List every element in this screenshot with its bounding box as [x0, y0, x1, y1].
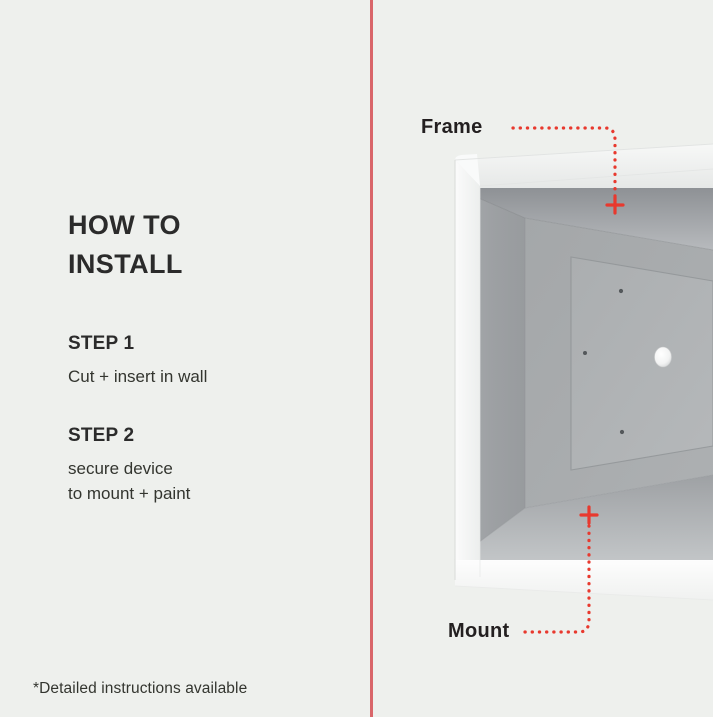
step-1-block: STEP 1 Cut + insert in wall [68, 333, 348, 389]
page-title: HOW TO INSTALL [68, 206, 338, 284]
step-1-desc-line-1: Cut + insert in wall [68, 364, 348, 389]
headline-line-2: INSTALL [68, 245, 338, 284]
wall-niche-illustration [373, 0, 713, 717]
product-photo-panel: Frame Mount [373, 0, 713, 717]
instructions-panel: HOW TO INSTALL STEP 1 Cut + insert in wa… [0, 0, 370, 717]
step-2-desc-line-2: to mount + paint [68, 481, 348, 506]
mount-plate [571, 257, 713, 470]
callout-label-frame: Frame [421, 116, 483, 139]
callout-label-mount: Mount [448, 620, 509, 643]
poster-root: HOW TO INSTALL STEP 1 Cut + insert in wa… [0, 0, 713, 717]
footnote-text: *Detailed instructions available [33, 680, 247, 698]
step-2-block: STEP 2 secure device to mount + paint [68, 425, 348, 506]
step-2-description: secure device to mount + paint [68, 456, 348, 506]
step-1-description: Cut + insert in wall [68, 364, 348, 389]
step-1-title: STEP 1 [68, 333, 348, 355]
headline-line-1: HOW TO [68, 206, 338, 245]
step-2-title: STEP 2 [68, 425, 348, 447]
step-2-desc-line-1: secure device [68, 456, 348, 481]
